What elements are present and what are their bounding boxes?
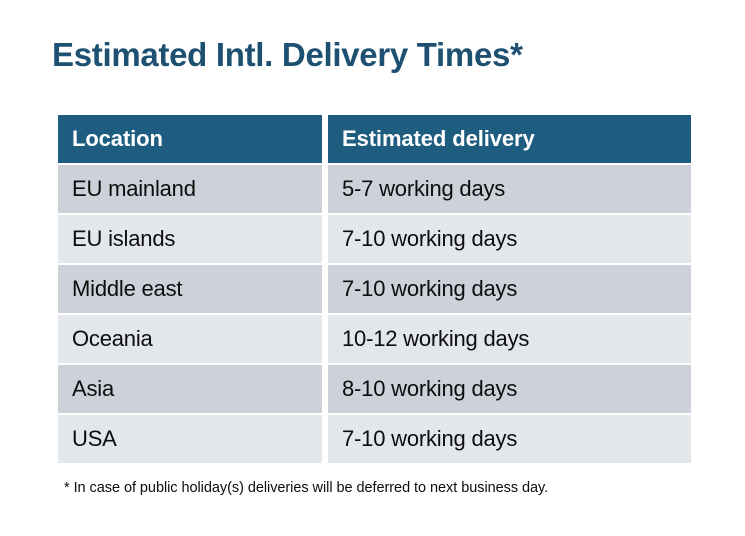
table-row: Asia 8-10 working days [58, 365, 691, 413]
table-row: Middle east 7-10 working days [58, 265, 691, 313]
table-row: USA 7-10 working days [58, 415, 691, 463]
cell-location: Asia [58, 365, 322, 413]
cell-delivery: 7-10 working days [328, 215, 691, 263]
cell-delivery: 7-10 working days [328, 265, 691, 313]
cell-location: USA [58, 415, 322, 463]
cell-location: Middle east [58, 265, 322, 313]
cell-location: Oceania [58, 315, 322, 363]
delivery-times-page: Estimated Intl. Delivery Times* Location… [0, 0, 745, 536]
delivery-times-table: Location Estimated delivery EU mainland … [52, 113, 697, 465]
footnote-text: * In case of public holiday(s) deliverie… [64, 480, 548, 496]
table-row: EU islands 7-10 working days [58, 215, 691, 263]
table-row: Oceania 10-12 working days [58, 315, 691, 363]
table-row: EU mainland 5-7 working days [58, 165, 691, 213]
table-header: Location Estimated delivery [58, 115, 691, 163]
cell-delivery: 7-10 working days [328, 415, 691, 463]
column-header-location: Location [58, 115, 322, 163]
cell-delivery: 5-7 working days [328, 165, 691, 213]
cell-delivery: 10-12 working days [328, 315, 691, 363]
table-header-row: Location Estimated delivery [58, 115, 691, 163]
cell-location: EU islands [58, 215, 322, 263]
cell-delivery: 8-10 working days [328, 365, 691, 413]
page-title: Estimated Intl. Delivery Times* [52, 36, 523, 74]
column-header-estimated-delivery: Estimated delivery [328, 115, 691, 163]
table-body: EU mainland 5-7 working days EU islands … [58, 165, 691, 463]
cell-location: EU mainland [58, 165, 322, 213]
